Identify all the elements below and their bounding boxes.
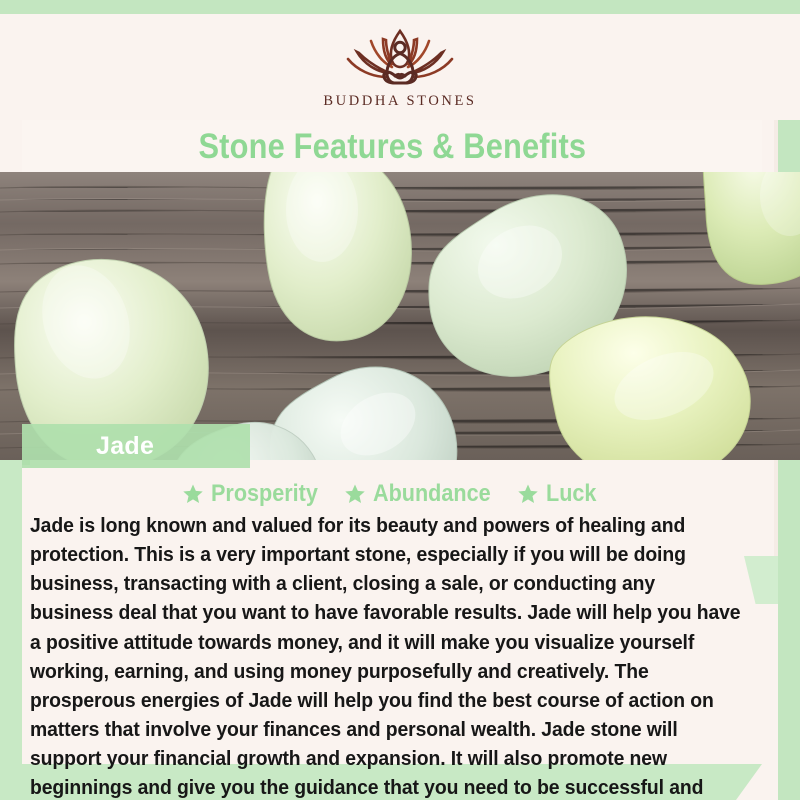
stone-photo	[0, 172, 800, 460]
benefit-item-prosperity: Prosperity	[182, 480, 330, 508]
star-icon	[517, 483, 539, 505]
benefit-item-luck: Luck	[517, 480, 602, 508]
section-title-band: Stone Features & Benefits	[22, 120, 762, 172]
benefit-item-abundance: Abundance	[344, 480, 504, 508]
infographic-page: BUDDHA STONES Stone Features & Benefits	[0, 0, 800, 800]
benefits-row: Prosperity Abundance Luck	[22, 478, 762, 510]
stone-name-label: Jade	[96, 432, 154, 461]
benefit-label: Luck	[546, 480, 596, 508]
brand-logo: BUDDHA STONES	[323, 25, 476, 110]
star-icon	[344, 483, 366, 505]
frame-top-bar	[0, 0, 800, 14]
lotus-meditation-icon	[331, 25, 469, 91]
page-title: Stone Features & Benefits	[198, 129, 586, 164]
benefit-label: Prosperity	[211, 480, 318, 508]
description-text: Jade is long known and valued for its be…	[30, 512, 741, 800]
description-block: Jade is long known and valued for its be…	[22, 512, 778, 800]
stone-name-chip: Jade	[22, 424, 250, 468]
brand-header: BUDDHA STONES	[0, 14, 800, 120]
stone-photo-illustration	[0, 172, 800, 460]
star-icon	[182, 483, 204, 505]
brand-name: BUDDHA STONES	[323, 93, 476, 110]
benefit-label: Abundance	[373, 480, 491, 508]
frame-left-bar	[0, 460, 22, 800]
